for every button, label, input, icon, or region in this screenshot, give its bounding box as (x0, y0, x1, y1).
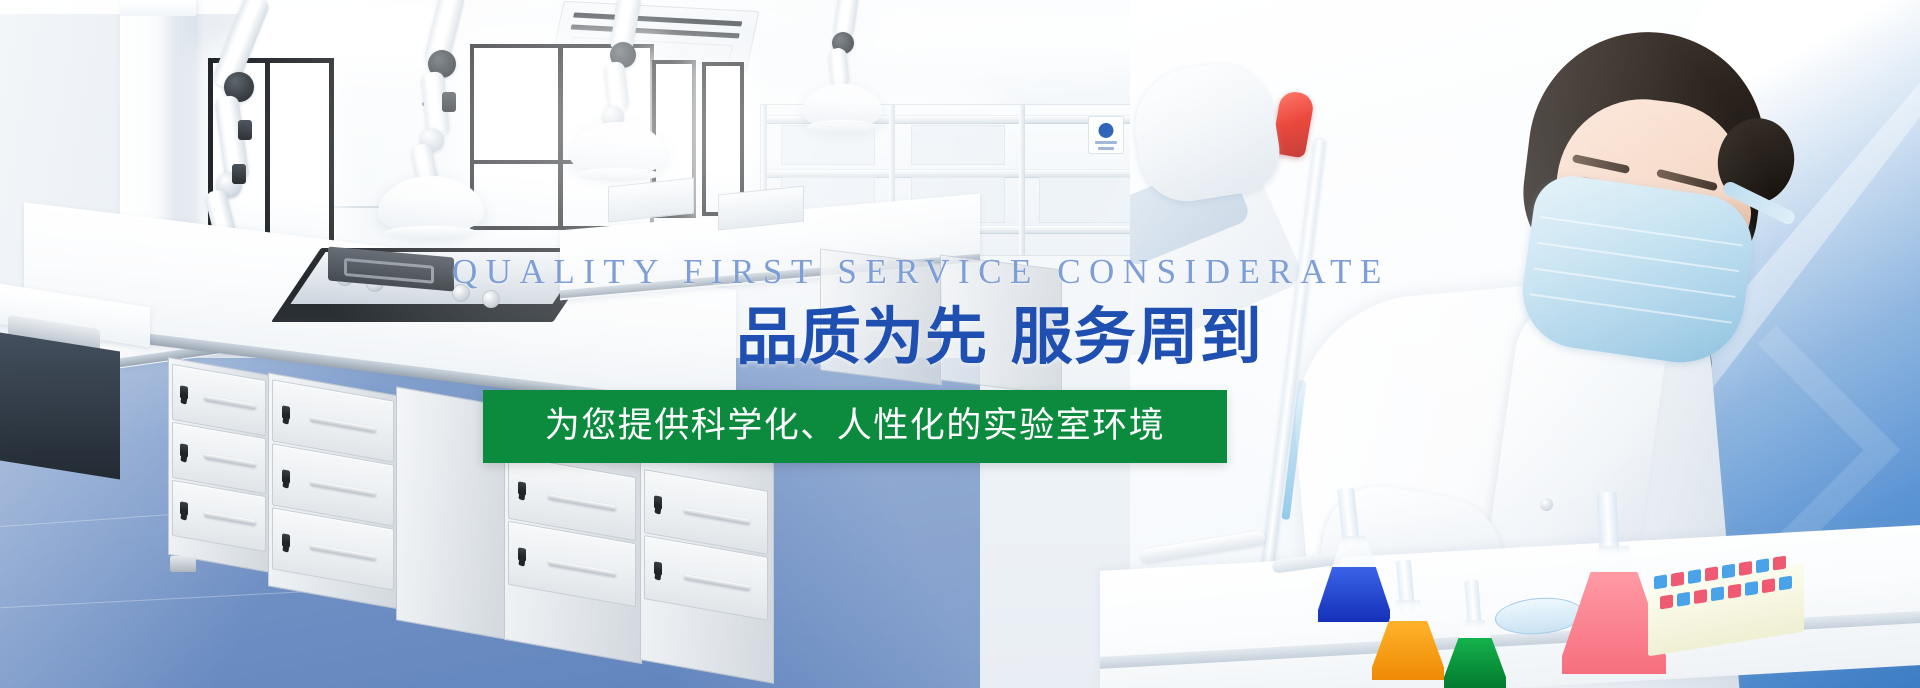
subtitle-green-band: 为您提供科学化、人性化的实验室环境 (483, 390, 1227, 463)
banner-text-overlay: QUALITY FIRST SERVICE CONSIDERATE 品质为先 服… (0, 0, 1920, 688)
subtitle-text: 为您提供科学化、人性化的实验室环境 (545, 409, 1166, 444)
banner-headline: 品质为先 服务周到 (736, 304, 1263, 369)
english-tagline: QUALITY FIRST SERVICE CONSIDERATE (452, 254, 1390, 289)
lab-hero-banner: QUALITY FIRST SERVICE CONSIDERATE 品质为先 服… (0, 0, 1920, 688)
